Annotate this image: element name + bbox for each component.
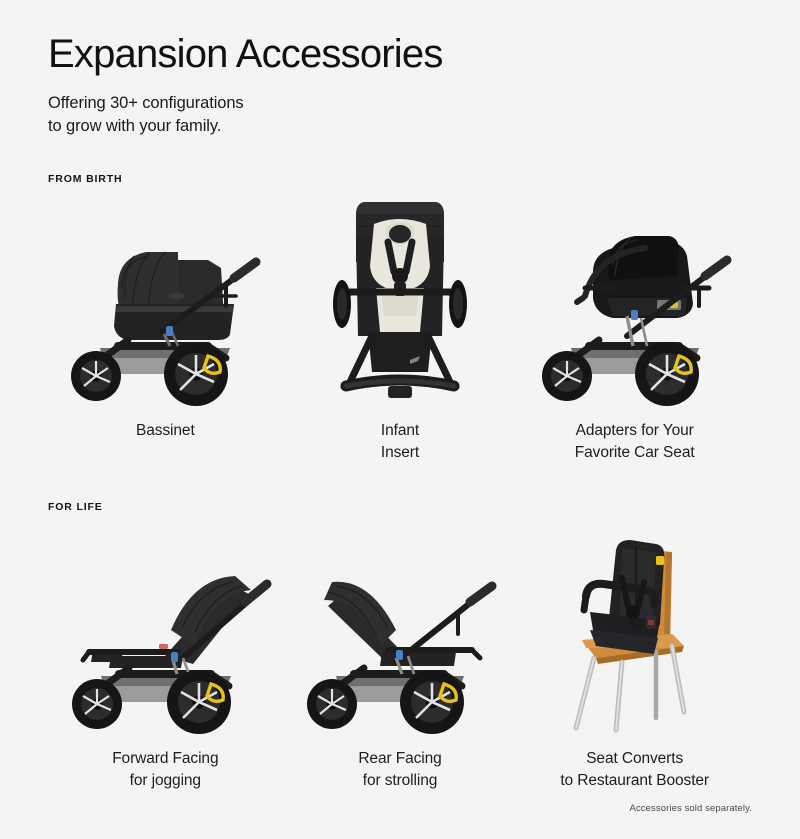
section-from-birth-grid: Bassinet xyxy=(48,196,752,463)
accessory-card-rear-facing[interactable]: Rear Facing for strolling xyxy=(283,524,518,791)
accessory-caption: Forward Facing for jogging xyxy=(112,748,218,791)
caption-line-1: Seat Converts xyxy=(560,748,709,770)
section-for-life-grid: Forward Facing for jogging xyxy=(48,524,752,791)
accessory-card-restaurant-booster[interactable]: Seat Converts to Restaurant Booster xyxy=(517,524,752,791)
stroller-with-bassinet-image xyxy=(48,196,283,406)
accessory-card-bassinet[interactable]: Bassinet xyxy=(48,196,283,463)
accessory-caption: Rear Facing for strolling xyxy=(358,748,441,791)
footnote-accessories-sold-separately: Accessories sold separately. xyxy=(630,803,752,814)
caption-line-2: Favorite Car Seat xyxy=(575,442,695,464)
stroller-seat-rear-facing-image xyxy=(283,524,518,734)
caption-line-1: Forward Facing xyxy=(112,748,218,770)
stroller-with-car-seat-adapter-image xyxy=(517,196,752,406)
section-label-from-birth: FROM BIRTH xyxy=(48,173,122,185)
accessory-card-forward-facing[interactable]: Forward Facing for jogging xyxy=(48,524,283,791)
page-title: Expansion Accessories xyxy=(48,31,443,77)
accessory-caption: Bassinet xyxy=(136,420,195,442)
accessory-caption: Adapters for Your Favorite Car Seat xyxy=(575,420,695,463)
caption-line-1: Adapters for Your xyxy=(575,420,695,442)
section-label-for-life: FOR LIFE xyxy=(48,501,103,513)
page-subtitle: Offering 30+ configurations to grow with… xyxy=(48,92,244,138)
accessory-card-car-seat-adapters[interactable]: Adapters for Your Favorite Car Seat xyxy=(517,196,752,463)
caption-line-1: Bassinet xyxy=(136,420,195,442)
accessories-page: Expansion Accessories Offering 30+ confi… xyxy=(0,0,800,839)
caption-line-2: for strolling xyxy=(358,770,441,792)
caption-line-2: to Restaurant Booster xyxy=(560,770,709,792)
caption-line-2: Insert xyxy=(381,442,419,464)
caption-line-2: for jogging xyxy=(112,770,218,792)
stroller-seat-forward-facing-image xyxy=(48,524,283,734)
accessory-caption: Infant Insert xyxy=(381,420,419,463)
page-subtitle-line-1: Offering 30+ configurations xyxy=(48,92,244,115)
page-subtitle-line-2: to grow with your family. xyxy=(48,115,244,138)
accessory-caption: Seat Converts to Restaurant Booster xyxy=(560,748,709,791)
stroller-front-with-infant-insert-image xyxy=(283,196,518,406)
caption-line-1: Infant xyxy=(381,420,419,442)
accessory-card-infant-insert[interactable]: Infant Insert xyxy=(283,196,518,463)
caption-line-1: Rear Facing xyxy=(358,748,441,770)
seat-as-restaurant-booster-on-chair-image xyxy=(517,524,752,734)
